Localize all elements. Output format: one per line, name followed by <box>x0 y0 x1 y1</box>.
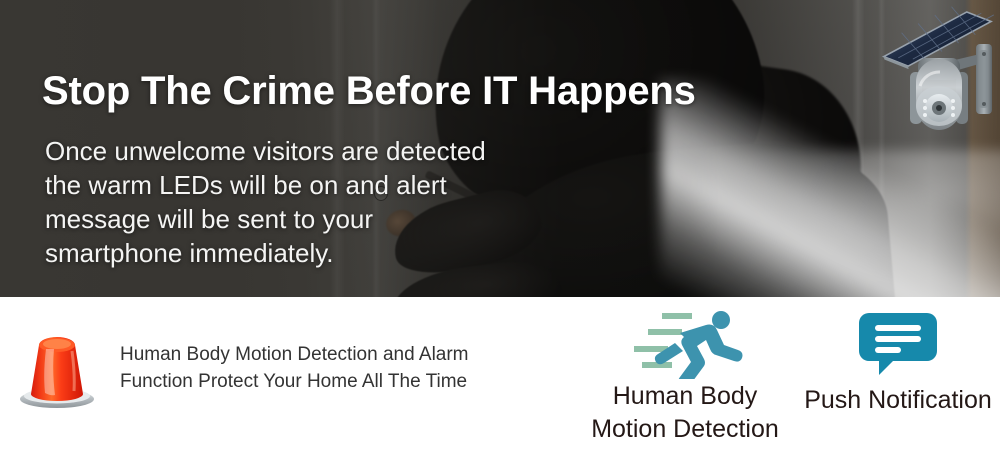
red-alarm-siren-icon <box>14 325 100 411</box>
solar-ptz-security-camera-icon <box>876 2 1000 152</box>
hero-subcopy-line: message will be sent to your <box>45 202 696 236</box>
feature-push-label: Push Notification <box>790 385 1000 416</box>
feature-motion-detection: Human Body Motion Detection <box>582 305 788 445</box>
feature-alarm-line: Human Body Motion Detection and Alarm <box>120 341 469 368</box>
promo-banner: Stop The Crime Before IT Happens Once un… <box>0 0 1000 449</box>
feature-alarm-line: Function Protect Your Home All The Time <box>120 368 469 395</box>
hero-subcopy-line: smartphone immediately. <box>45 236 696 270</box>
feature-motion-line: Motion Detection <box>582 414 788 445</box>
feature-alarm: Human Body Motion Detection and Alarm Fu… <box>14 325 469 411</box>
running-person-motion-icon <box>582 305 788 379</box>
feature-motion-label: Human Body Motion Detection <box>582 381 788 445</box>
feature-alarm-text: Human Body Motion Detection and Alarm Fu… <box>120 341 469 395</box>
hero-copy: Stop The Crime Before IT Happens Once un… <box>42 68 696 270</box>
hero-subcopy: Once unwelcome visitors are detected the… <box>45 134 696 270</box>
speech-bubble-notification-icon <box>790 305 1000 379</box>
hero-section: Stop The Crime Before IT Happens Once un… <box>0 0 1000 297</box>
feature-strip: Human Body Motion Detection and Alarm Fu… <box>0 297 1000 449</box>
hero-subcopy-line: Once unwelcome visitors are detected <box>45 134 696 168</box>
feature-push-notification: Push Notification <box>790 305 1000 416</box>
hero-subcopy-line: the warm LEDs will be on and alert <box>45 168 696 202</box>
feature-push-line: Push Notification <box>790 385 1000 416</box>
page-title: Stop The Crime Before IT Happens <box>42 68 696 114</box>
feature-motion-line: Human Body <box>582 381 788 412</box>
